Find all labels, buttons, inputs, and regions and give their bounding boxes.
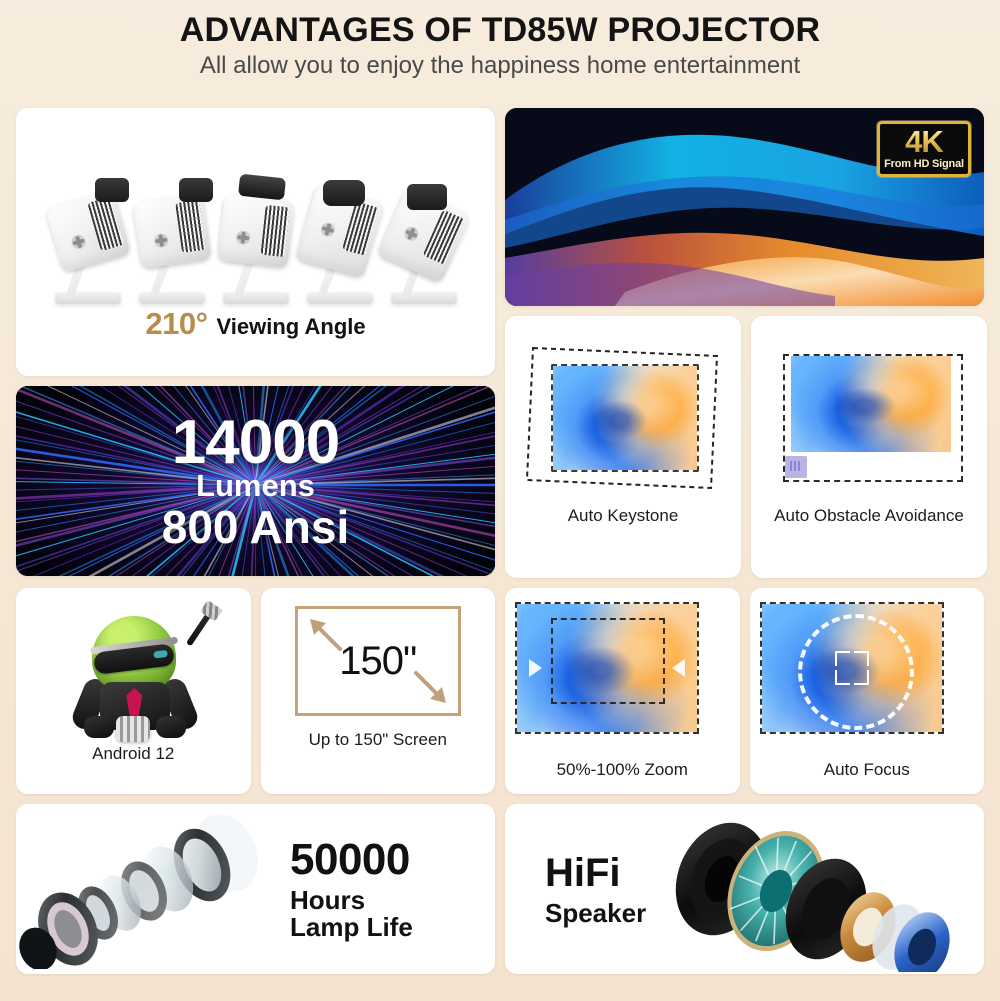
viewing-angle-value: 210° [145,306,207,342]
lamp-life-text-group: 50000 Hours Lamp Life [290,837,413,942]
card-lamp-life: 50000 Hours Lamp Life [16,804,495,974]
grid-row-1b: Auto Keystone Auto Obstacle Avoidance [505,316,987,578]
brightness-value: 14000 [162,412,350,474]
card-android: Android 12 [16,588,251,794]
screen-diagonal-diagram: 150" [295,606,461,716]
card-caption: Auto Keystone [568,506,679,526]
page-title: ADVANTAGES OF TD85W PROJECTOR [0,12,1000,49]
focus-crosshair-icon [835,651,869,685]
exploded-speaker-driver [650,807,950,972]
card-zoom: 50%-100% Zoom [505,588,740,794]
speaker-text-group: HiFi Speaker [545,851,646,928]
lamp-life-line2: Lamp Life [290,914,413,941]
page-subtitle: All allow you to enjoy the happiness hom… [0,53,1000,79]
grid-row-3: 50000 Hours Lamp Life HiFi Speaker [16,804,984,974]
projector-tilt-series-image [16,114,495,304]
keystone-corrected-image [551,364,699,472]
card-viewing-angle: 210° Viewing Angle [16,108,495,376]
brightness-ansi: 800 Ansi [162,504,350,550]
lamp-life-value: 50000 [290,837,413,883]
card-caption: Up to 150" Screen [309,730,447,750]
card-screen-size: 150" Up to 150" Screen [261,588,496,794]
brightness-text-group: 14000 Lumens 800 Ansi [162,412,350,550]
obstacle-block-icon [785,456,807,478]
projector-unit [385,184,463,304]
grid-row-2: Android 12 150" [16,588,984,794]
arrow-down-right-icon [412,669,450,707]
resolution-badge: 4K From HD Signal [877,121,971,177]
card-auto-keystone: Auto Keystone [505,316,741,578]
badge-subtext: From HD Signal [883,158,965,171]
projector-unit [217,184,295,304]
card-caption: Android 12 [92,744,174,764]
card-resolution: 4K From HD Signal [505,108,984,306]
badge-4k-text: 4K [883,127,965,157]
keystone-correction-diagram [523,338,723,498]
card-brightness: 14000 Lumens 800 Ansi [16,386,495,576]
header: ADVANTAGES OF TD85W PROJECTOR All allow … [0,0,1000,85]
viewing-angle-label-group: 210° Viewing Angle [145,306,365,342]
projector-unit [133,184,211,304]
projector-unit [301,184,379,304]
projector-unit [49,184,127,304]
infographic-page: ADVANTAGES OF TD85W PROJECTOR All allow … [0,0,1000,1001]
speaker-line1: HiFi [545,851,646,895]
card-obstacle-avoidance: Auto Obstacle Avoidance [751,316,987,578]
card-caption: Auto Obstacle Avoidance [774,506,964,526]
exploded-lens-assembly [16,809,286,969]
zoom-arrow-left-icon [529,659,542,677]
viewing-angle-label: Viewing Angle [216,314,365,340]
feature-grid: 210° Viewing Angle [16,108,984,974]
card-caption: 50%-100% Zoom [557,760,688,780]
arrow-up-left-icon [306,615,344,653]
card-auto-focus: Auto Focus [750,588,985,794]
lamp-life-line1: Hours [290,887,413,914]
card-speaker: HiFi Speaker [505,804,984,974]
focus-frame [760,602,944,734]
grid-row-1: 210° Viewing Angle [16,108,984,578]
card-caption: Auto Focus [824,760,910,780]
zoom-reduced-frame [551,618,665,704]
screen-size-value: 150" [339,639,416,684]
speaker-line2: Speaker [545,899,646,928]
obstacle-avoidance-diagram [769,338,969,498]
zoom-arrow-right-icon [672,659,685,677]
android-robot-mascot [58,604,208,744]
obstacle-shifted-image [791,356,951,452]
